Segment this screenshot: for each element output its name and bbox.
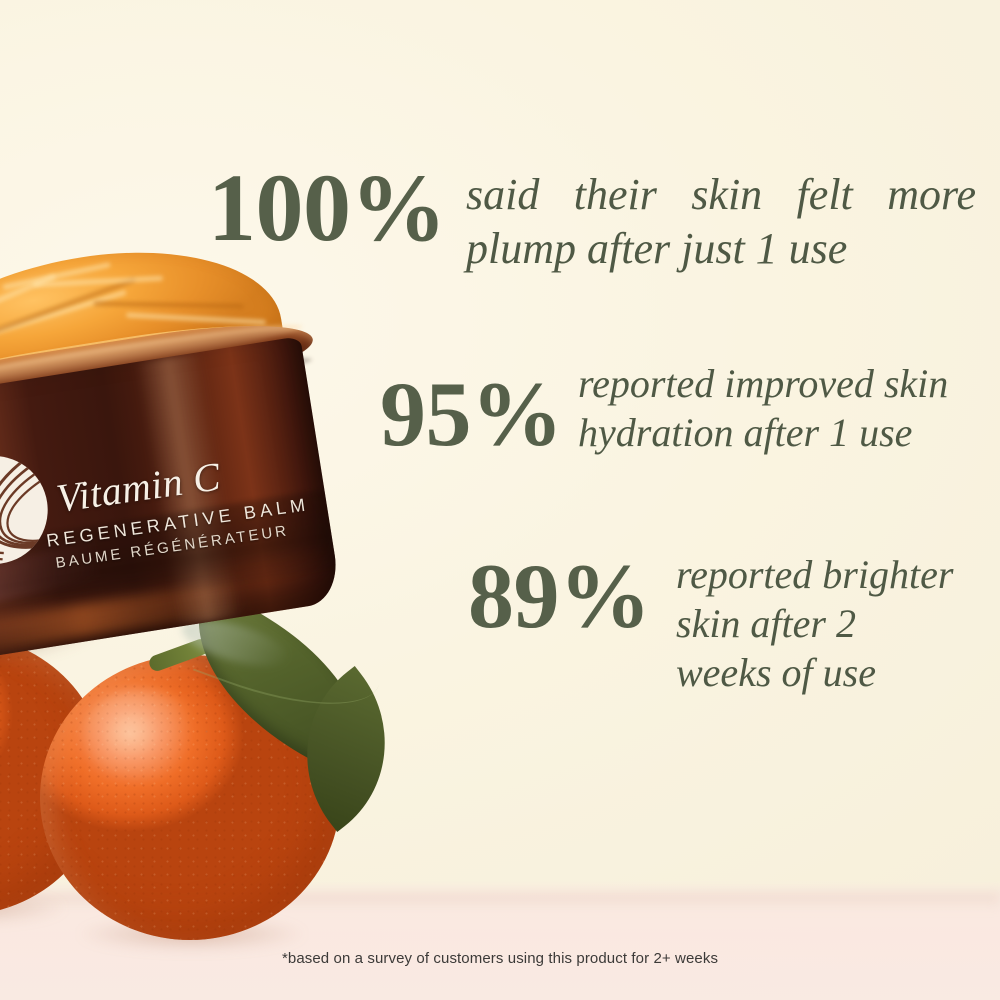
stat-percent-95: 95%: [380, 368, 563, 460]
stat-description-3: reported brighter skin after 2 weeks of …: [676, 551, 976, 697]
promo-image: RA: [0, 0, 1000, 1000]
stat-description-1-line-1: said their skin felt more: [466, 168, 976, 222]
stat-description-3-line-1: reported brighter: [676, 551, 976, 600]
stat-description-1: said their skin felt more plump after ju…: [466, 168, 976, 275]
stat-description-2-line-2: hydration after 1 use: [578, 409, 974, 458]
stat-description-2-line-1: reported improved skin: [578, 360, 974, 409]
stat-description-3-line-3: weeks of use: [676, 649, 976, 698]
stat-percent-100: 100%: [208, 160, 446, 256]
statistics-block: 100% said their skin felt more plump aft…: [0, 0, 1000, 1000]
stat-description-1-line-2: plump after just 1 use: [466, 222, 976, 276]
stat-description-2: reported improved skin hydration after 1…: [578, 360, 974, 458]
stat-percent-89: 89%: [468, 550, 651, 642]
stat-description-3-line-2: skin after 2: [676, 600, 976, 649]
survey-footnote: *based on a survey of customers using th…: [0, 950, 1000, 967]
